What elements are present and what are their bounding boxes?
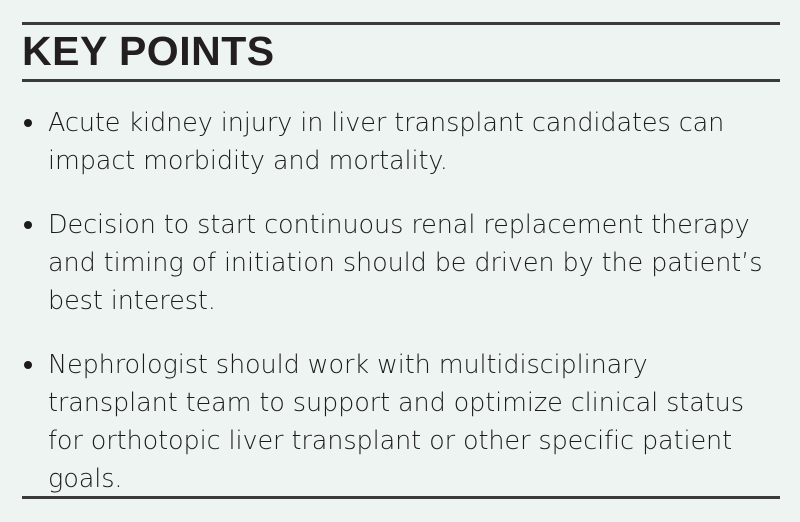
key-points-list: Acute kidney injury in liver transplant … [22,104,778,498]
bullet-dot-icon [24,361,32,369]
divider-rule-bottom [22,496,780,499]
divider-rule-under-title [22,79,780,82]
key-points-box: KEY POINTS Acute kidney injury in liver … [0,0,800,522]
bullet-dot-icon [24,221,32,229]
list-item: Nephrologist should work with multidisci… [22,346,778,498]
divider-rule-top [22,22,780,25]
page-title: KEY POINTS [22,28,275,74]
bullet-dot-icon [24,119,32,127]
list-item-text: Acute kidney injury in liver transplant … [48,104,778,180]
list-item: Decision to start continuous renal repla… [22,206,778,320]
list-item: Acute kidney injury in liver transplant … [22,104,778,180]
list-item-text: Decision to start continuous renal repla… [48,206,778,320]
list-item-text: Nephrologist should work with multidisci… [48,346,778,498]
